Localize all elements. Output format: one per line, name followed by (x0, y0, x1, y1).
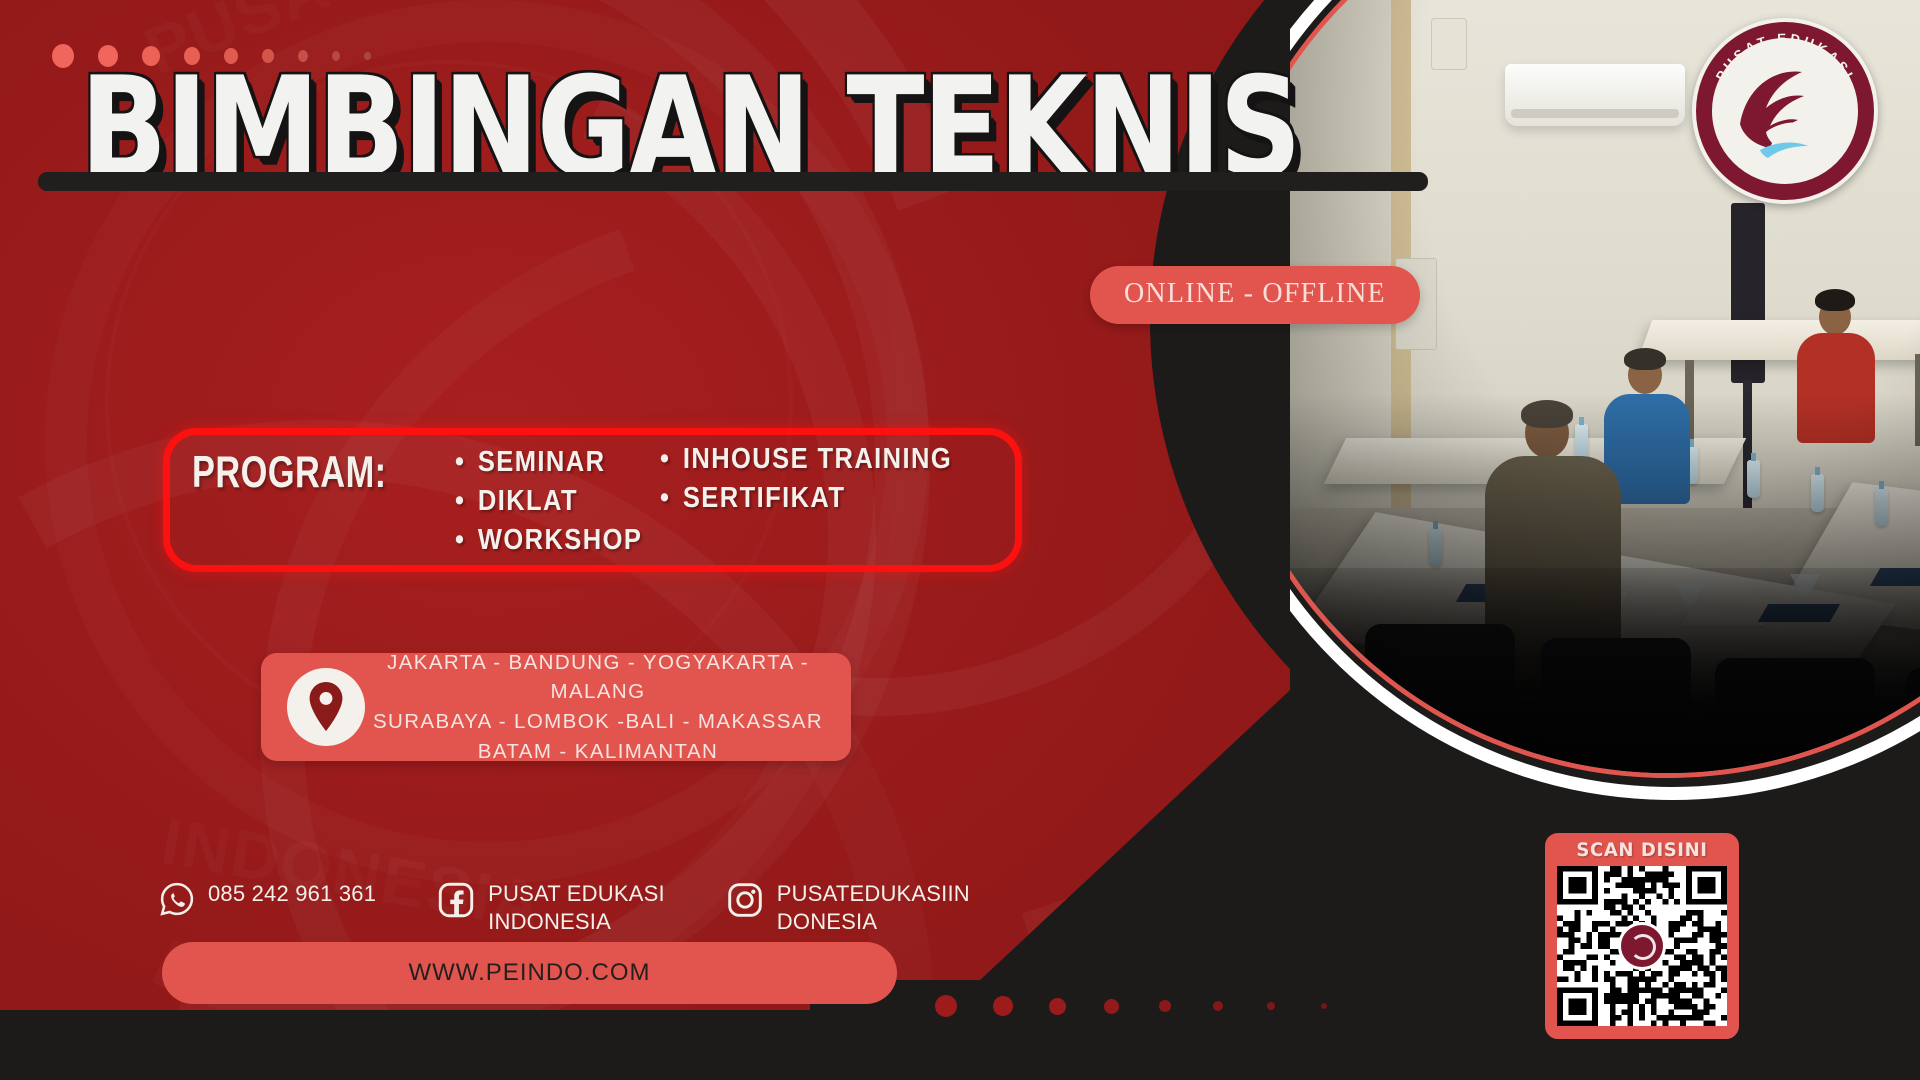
brand-logo: PUSAT EDUKASI INDONESIA (1692, 18, 1878, 204)
program-item: SEMINAR (455, 446, 642, 479)
qr-title: SCAN DISINI (1550, 839, 1734, 861)
contacts-row: 085 242 961 361 PUSAT EDUKASI INDONESIA … (160, 880, 1032, 935)
program-item: WORKSHOP (455, 524, 642, 557)
locations-text: JAKARTA - BANDUNG - YOGYAKARTA - MALANG … (365, 648, 851, 767)
bottom-decorative-dots (935, 995, 1327, 1017)
location-pin-icon (287, 668, 365, 746)
svg-text:PUSAT EDUKASI: PUSAT EDUKASI (1713, 31, 1857, 84)
program-item: DIKLAT (455, 485, 642, 518)
instagram-icon (727, 882, 763, 923)
qr-scan-card[interactable]: SCAN DISINI (1542, 830, 1742, 1042)
locations-line: SURABAYA - LOMBOK -BALI - MAKASSAR (365, 707, 831, 737)
program-column-1: SEMINAR DIKLAT WORKSHOP (455, 446, 668, 563)
whatsapp-icon (160, 882, 194, 921)
facebook-icon (438, 882, 474, 923)
contact-facebook[interactable]: PUSAT EDUKASI INDONESIA (438, 880, 665, 935)
program-label: PROGRAM: (192, 448, 387, 498)
program-item: INHOUSE TRAINING (660, 443, 952, 476)
mode-badge: ONLINE - OFFLINE (1090, 266, 1420, 324)
poster-canvas: PUSAT EDUKASI INDONESIA BIMBINGAN TEKNIS… (0, 0, 1920, 1080)
contact-label: PUSAT EDUKASI INDONESIA (488, 880, 665, 935)
program-item: SERTIFIKAT (660, 482, 952, 515)
website-label: WWW.PEINDO.COM (409, 959, 651, 987)
title-underline-rule (38, 172, 1428, 191)
locations-line: BATAM - KALIMANTAN (365, 737, 831, 767)
contact-instagram[interactable]: PUSATEDUKASIIN DONESIA (727, 880, 970, 935)
logo-top-text: PUSAT EDUKASI (1713, 31, 1857, 84)
contact-label: PUSATEDUKASIIN DONESIA (777, 880, 970, 935)
contact-whatsapp[interactable]: 085 242 961 361 (160, 880, 376, 921)
program-column-2: INHOUSE TRAINING SERTIFIKAT (660, 443, 992, 521)
qr-code-icon[interactable] (1557, 866, 1727, 1026)
poster-title-block: BIMBINGAN TEKNIS (80, 60, 1260, 168)
locations-card: JAKARTA - BANDUNG - YOGYAKARTA - MALANG … (261, 653, 851, 761)
logo-bottom-text: INDONESIA (1736, 147, 1835, 179)
contact-label: 085 242 961 361 (208, 880, 376, 908)
locations-line: JAKARTA - BANDUNG - YOGYAKARTA - MALANG (365, 648, 831, 707)
website-pill[interactable]: WWW.PEINDO.COM (162, 942, 897, 1004)
svg-text:INDONESIA: INDONESIA (1736, 147, 1835, 179)
